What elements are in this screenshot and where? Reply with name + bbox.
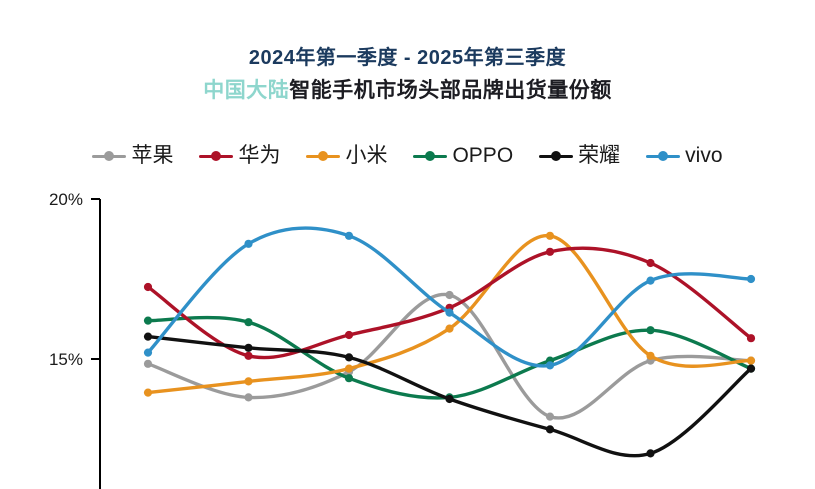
series-华为	[144, 248, 755, 360]
data-point[interactable]	[445, 291, 453, 299]
data-point[interactable]	[144, 349, 152, 357]
series-line	[148, 248, 751, 357]
data-point[interactable]	[244, 240, 252, 248]
data-point[interactable]	[546, 425, 554, 433]
data-point[interactable]	[244, 352, 252, 360]
y-axis-tick-label: 20%	[49, 190, 83, 209]
data-point[interactable]	[244, 318, 252, 326]
data-point[interactable]	[244, 344, 252, 352]
data-point[interactable]	[546, 361, 554, 369]
data-point[interactable]	[144, 317, 152, 325]
data-point[interactable]	[244, 377, 252, 385]
data-point[interactable]	[445, 395, 453, 403]
data-point[interactable]	[546, 232, 554, 240]
data-point[interactable]	[646, 326, 654, 334]
data-point[interactable]	[646, 259, 654, 267]
data-point[interactable]	[244, 393, 252, 401]
data-point[interactable]	[747, 365, 755, 373]
chart-page: 2024年第一季度 - 2025年第三季度 中国大陆智能手机市场头部品牌出货量份…	[0, 0, 815, 489]
data-point[interactable]	[345, 331, 353, 339]
data-point[interactable]	[345, 365, 353, 373]
data-point[interactable]	[445, 325, 453, 333]
data-point[interactable]	[345, 374, 353, 382]
data-point[interactable]	[546, 413, 554, 421]
data-point[interactable]	[144, 389, 152, 397]
chart-plot-area: 20%15%	[0, 0, 815, 489]
data-point[interactable]	[345, 353, 353, 361]
data-point[interactable]	[345, 232, 353, 240]
data-point[interactable]	[646, 352, 654, 360]
data-point[interactable]	[747, 357, 755, 365]
data-point[interactable]	[445, 309, 453, 317]
data-point[interactable]	[546, 248, 554, 256]
y-axis-tick-label: 15%	[49, 350, 83, 369]
data-point[interactable]	[646, 277, 654, 285]
data-point[interactable]	[646, 449, 654, 457]
data-point[interactable]	[747, 275, 755, 283]
data-point[interactable]	[144, 283, 152, 291]
chart-svg: 20%15%	[0, 0, 815, 489]
data-point[interactable]	[747, 334, 755, 342]
data-point[interactable]	[144, 333, 152, 341]
data-point[interactable]	[144, 360, 152, 368]
